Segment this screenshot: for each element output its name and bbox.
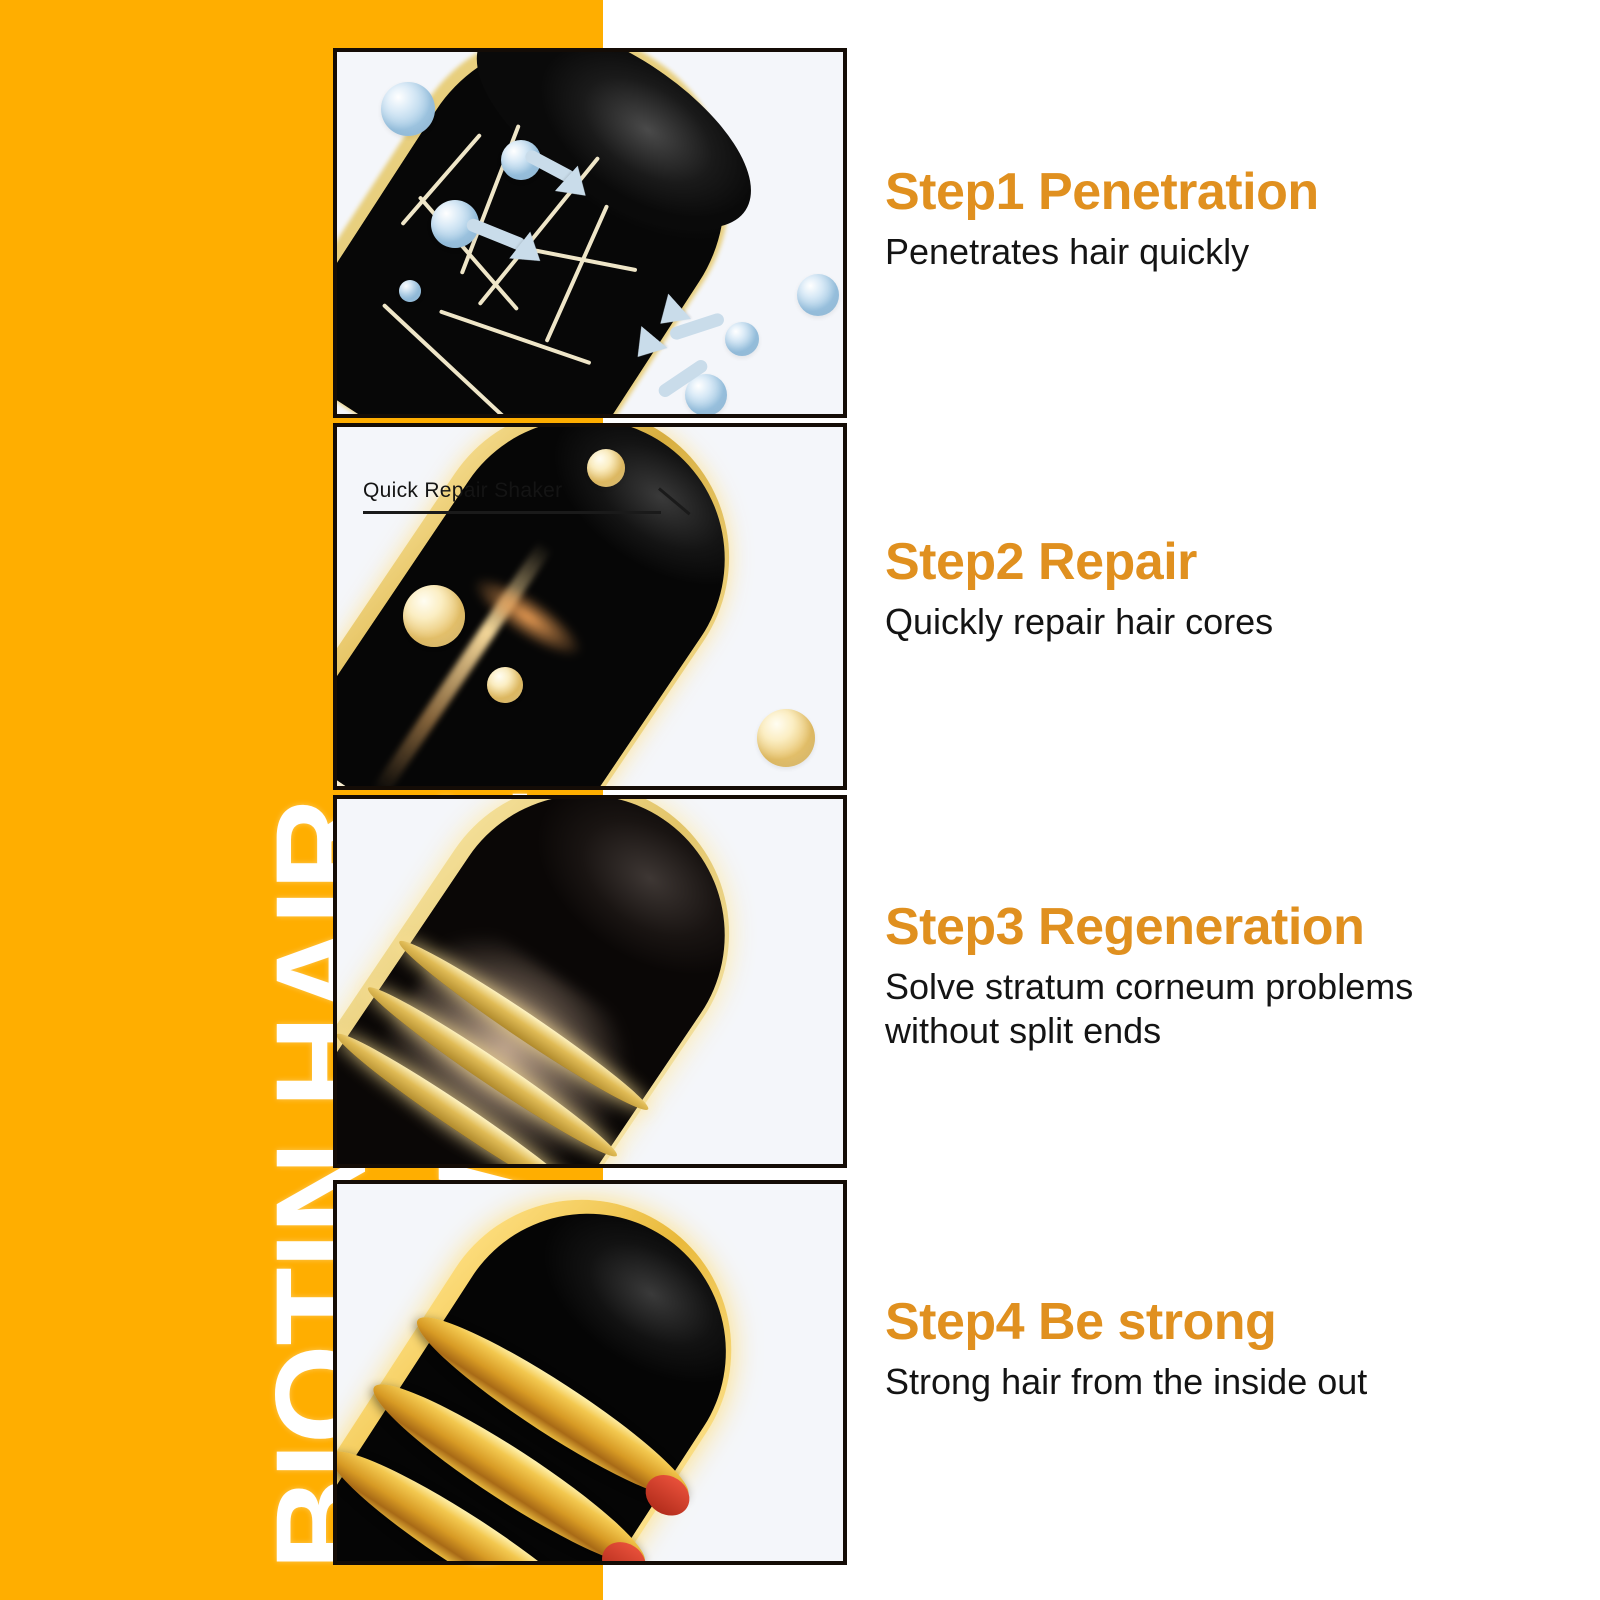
serum-droplet-icon — [797, 274, 839, 316]
steps-column: Step1 Penetration Penetrates hair quickl… — [885, 0, 1585, 1600]
panel-regeneration-artwork — [337, 799, 843, 1164]
step-item-4: Step4 Be strong Strong hair from the ins… — [885, 1295, 1585, 1404]
hair-strand-icon — [337, 799, 779, 1164]
step-description: Strong hair from the inside out — [885, 1360, 1485, 1404]
step-description: Quickly repair hair cores — [885, 600, 1485, 644]
oil-droplet-icon — [403, 585, 465, 647]
crack-line — [545, 204, 610, 343]
crack-line — [382, 303, 516, 414]
step-title: Step3 Regeneration — [885, 900, 1585, 955]
step-item-3: Step3 Regeneration Solve stratum corneum… — [885, 900, 1585, 1053]
step-title: Step1 Penetration — [885, 165, 1585, 220]
panel-repair-artwork: Quick Repair Shaker — [337, 427, 843, 786]
serum-droplet-icon — [381, 82, 435, 136]
step-item-2: Step2 Repair Quickly repair hair cores — [885, 535, 1585, 644]
callout-quick-repair-shaker: Quick Repair Shaker — [363, 479, 562, 503]
crack-line — [439, 309, 592, 365]
oil-droplet-icon — [487, 667, 523, 703]
illustration-panel-column: Quick Repair Shaker — [333, 0, 847, 1600]
step-description: Penetrates hair quickly — [885, 230, 1485, 274]
panel-penetration — [333, 48, 847, 418]
panel-be-strong — [333, 1180, 847, 1565]
oil-droplet-icon — [587, 449, 625, 487]
panel-regeneration — [333, 795, 847, 1168]
panel-penetration-artwork — [337, 52, 843, 414]
serum-droplet-icon — [399, 280, 421, 302]
step-title: Step4 Be strong — [885, 1295, 1585, 1350]
callout-leader-line — [363, 511, 661, 514]
serum-droplet-icon — [725, 322, 759, 356]
step-description: Solve stratum corneum problems without s… — [885, 965, 1485, 1053]
step-title: Step2 Repair — [885, 535, 1585, 590]
oil-droplet-icon — [757, 709, 815, 767]
panel-repair: Quick Repair Shaker — [333, 423, 847, 790]
panel-be-strong-artwork — [337, 1184, 843, 1561]
step-item-1: Step1 Penetration Penetrates hair quickl… — [885, 165, 1585, 274]
callout-label: Quick Repair Shaker — [363, 479, 562, 503]
